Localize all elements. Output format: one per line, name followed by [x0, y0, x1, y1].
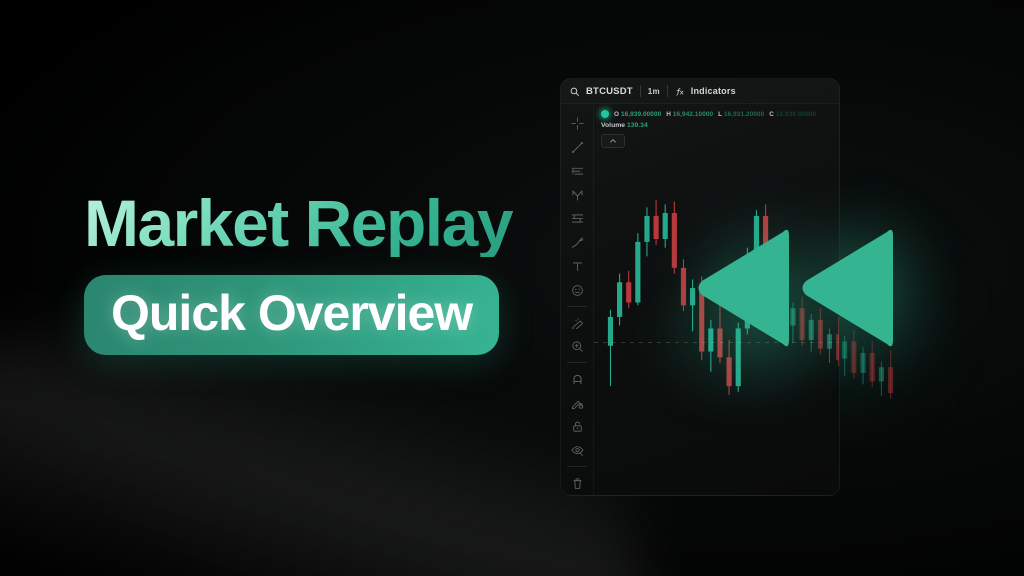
page-title: Market Replay	[84, 190, 514, 257]
indicators-label[interactable]: Indicators	[691, 86, 736, 96]
magnifier-plus-icon[interactable]	[564, 335, 590, 359]
volume-value: 139.34	[627, 122, 648, 129]
ohlc-high: H 16,942.10000	[666, 111, 713, 118]
eye-icon[interactable]	[564, 439, 590, 463]
brush-tool[interactable]	[564, 231, 590, 255]
toolbar-divider-3	[567, 466, 587, 467]
chart-legend: O 16,939.00000 H 16,942.10000 L 16,931.2…	[601, 110, 816, 148]
horizontal-lines-tool[interactable]	[564, 160, 590, 184]
smiley-icon[interactable]	[564, 278, 590, 302]
live-status-dot	[601, 110, 609, 118]
ruler-icon[interactable]	[564, 311, 590, 335]
header-divider-1	[640, 85, 641, 97]
legend-ohlc-row: O 16,939.00000 H 16,942.10000 L 16,931.2…	[601, 110, 816, 118]
interval-label[interactable]: 1m	[648, 87, 660, 96]
toolbar-divider-1	[567, 306, 587, 307]
chevron-up-icon[interactable]	[601, 134, 625, 148]
search-icon[interactable]	[570, 87, 579, 96]
subtitle-pill: Quick Overview	[84, 275, 499, 355]
ohlc-low: L 16,931.20000	[718, 111, 764, 118]
lock-icon[interactable]	[564, 415, 590, 439]
headline-block: Market Replay Quick Overview	[84, 190, 514, 355]
volume-label: Volume	[601, 122, 625, 129]
header-divider-2	[667, 85, 668, 97]
chart-toolbar-header: BTCUSDT 1m Indicators	[561, 79, 839, 104]
fib-retracement-tool[interactable]	[564, 207, 590, 231]
pencil-lock-icon[interactable]	[564, 391, 590, 415]
drawing-toolbar	[561, 104, 594, 495]
trash-icon[interactable]	[564, 471, 590, 495]
text-t-icon[interactable]	[564, 255, 590, 279]
ohlc-close: C 16,939.90000	[769, 111, 816, 118]
legend-volume-row: Volume 139.34	[601, 122, 816, 129]
ohlc-open: O 16,939.00000	[614, 111, 661, 118]
subtitle-text: Quick Overview	[111, 285, 472, 341]
crosshair-tool[interactable]	[564, 112, 590, 136]
symbol-label[interactable]: BTCUSDT	[586, 86, 633, 97]
rewind-icon[interactable]	[690, 218, 910, 358]
fx-icon[interactable]	[675, 87, 684, 96]
toolbar-divider-2	[567, 362, 587, 363]
magnet-icon[interactable]	[564, 367, 590, 391]
pitchfork-tool[interactable]	[564, 183, 590, 207]
trend-line-tool[interactable]	[564, 136, 590, 160]
